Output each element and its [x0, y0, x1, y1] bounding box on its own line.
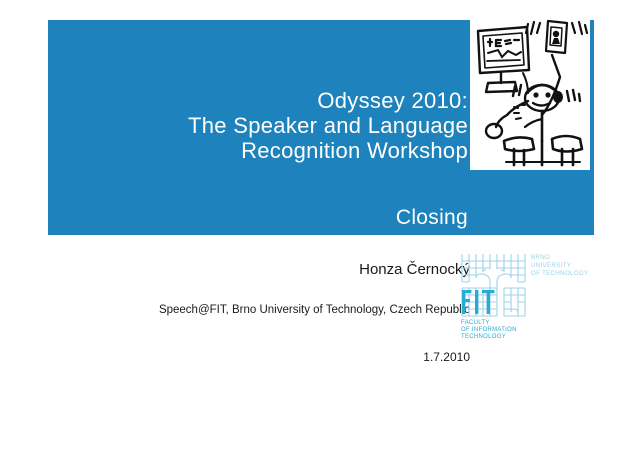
logo-faculty-line1: FACULTY [461, 320, 490, 326]
but-fit-logo: BRNO UNIVERSITY OF TECHNOLOGY [458, 252, 588, 340]
logo-university-line2: UNIVERSITY [531, 262, 571, 269]
logo-faculty-line3: TECHNOLOGY [461, 334, 506, 340]
presentation-slide: Odyssey 2010: The Speaker and Language R… [0, 0, 640, 452]
author-affiliation: Speech@FIT, Brno University of Technolog… [0, 303, 470, 317]
logo-faculty-line2: OF INFORMATION [461, 327, 517, 333]
author-name: Honza Černocký [0, 261, 470, 279]
logo-university-line1: BRNO [531, 254, 550, 261]
logo-university-line3: OF TECHNOLOGY [531, 270, 588, 277]
cartoon-illustration [470, 15, 590, 170]
logo-fit-letters [462, 290, 495, 314]
presentation-date: 1.7.2010 [0, 350, 470, 365]
slide-subtitle: Closing [58, 206, 468, 230]
slide-title: Odyssey 2010: The Speaker and Language R… [58, 88, 468, 163]
